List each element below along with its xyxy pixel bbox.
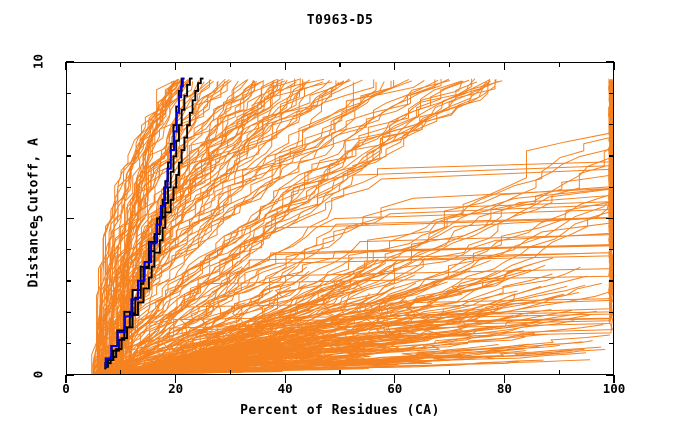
plot-svg — [67, 63, 613, 374]
y-tick-right-major — [606, 61, 614, 62]
y-tick-label: 0 — [31, 355, 46, 395]
x-tick-top-major — [504, 62, 505, 70]
y-tick-right-minor — [609, 249, 614, 250]
y-tick-right-minor — [609, 155, 614, 156]
x-tick-top-major — [285, 62, 286, 70]
x-tick-label: 100 — [584, 381, 644, 396]
y-tick-right-minor — [609, 187, 614, 188]
x-tick-top-minor — [339, 62, 340, 67]
x-tick-minor — [339, 370, 340, 375]
y-tick-minor — [66, 124, 71, 125]
x-tick-top-minor — [449, 62, 450, 67]
x-tick-top-major — [175, 62, 176, 70]
x-tick-minor — [559, 370, 560, 375]
x-tick-top-minor — [120, 62, 121, 67]
y-tick-right-major — [606, 218, 614, 219]
y-tick-major — [66, 374, 74, 375]
y-tick-right-minor — [609, 280, 614, 281]
x-tick-top-minor — [559, 62, 560, 67]
y-tick-right-minor — [609, 312, 614, 313]
y-tick-minor — [66, 343, 71, 344]
y-tick-major — [66, 61, 74, 62]
x-tick-label: 20 — [146, 381, 206, 396]
x-tick-minor — [449, 370, 450, 375]
y-tick-right-minor — [609, 343, 614, 344]
chart-title: T0963-D5 — [0, 13, 680, 28]
y-tick-right-minor — [609, 93, 614, 94]
y-tick-major — [66, 218, 74, 219]
y-tick-minor — [66, 312, 71, 313]
x-axis-title: Percent of Residues (CA) — [0, 403, 680, 418]
y-axis-title: Distance Cutoff, A — [27, 113, 42, 313]
x-tick-top-major — [613, 62, 614, 70]
y-tick-right-major — [606, 374, 614, 375]
y-tick-minor — [66, 93, 71, 94]
x-tick-top-minor — [230, 62, 231, 67]
x-tick-label: 80 — [474, 381, 534, 396]
y-tick-right-minor — [609, 124, 614, 125]
y-tick-minor — [66, 187, 71, 188]
x-tick-top-major — [394, 62, 395, 70]
x-tick-minor — [120, 370, 121, 375]
y-tick-label: 10 — [31, 42, 46, 82]
x-tick-label: 40 — [255, 381, 315, 396]
chart-page: T0963-D5 0204060801000510 Percent of Res… — [0, 0, 680, 440]
y-tick-minor — [66, 249, 71, 250]
x-tick-label: 60 — [365, 381, 425, 396]
y-tick-minor — [66, 280, 71, 281]
y-tick-minor — [66, 155, 71, 156]
x-tick-top-major — [65, 62, 66, 70]
plot-area — [66, 62, 614, 375]
x-tick-minor — [230, 370, 231, 375]
